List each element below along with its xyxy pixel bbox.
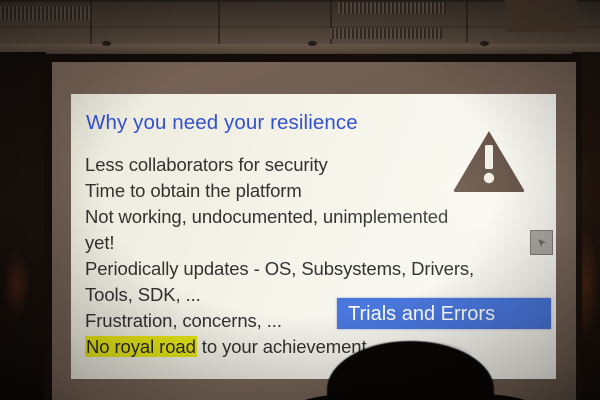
highlighted-phrase: No royal road [85,336,197,357]
ceiling [0,0,600,58]
slide-body-line: Time to obtain the platform [85,178,555,204]
slide-title: Why you need your resilience [86,111,358,135]
slide-body-line: Periodically updates - OS, Subsystems, D… [85,256,555,282]
projected-slide-photo: Why you need your resilience Less collab… [0,0,600,400]
slide-body-line: Less collaborators for security [85,152,555,178]
final-line-rest: to your achievement [197,336,367,357]
slide-body-line-final: No royal road to your achievement [85,334,555,360]
slide-body-line: Not working, undocumented, unimplemented [85,204,555,230]
ceiling-panel [505,0,577,32]
callout-label: Trials and Errors [348,301,495,327]
room-wall-left [0,52,46,400]
ceiling-tile-seam [218,0,220,46]
ceiling-tile-seam [466,0,468,42]
rail-bolt [480,41,489,46]
trials-and-errors-callout: Trials and Errors [337,298,551,329]
slide-body-line: yet! [85,230,555,256]
presenter-pointer-icon[interactable] [530,230,553,255]
rail-bolt [102,41,111,46]
rail-bolt [308,41,317,46]
air-vent-icon [0,6,92,20]
air-vent-icon [338,2,446,14]
air-vent-icon [330,28,442,39]
presentation-slide: Why you need your resilience Less collab… [71,94,556,379]
wall-light-glow [4,250,30,320]
